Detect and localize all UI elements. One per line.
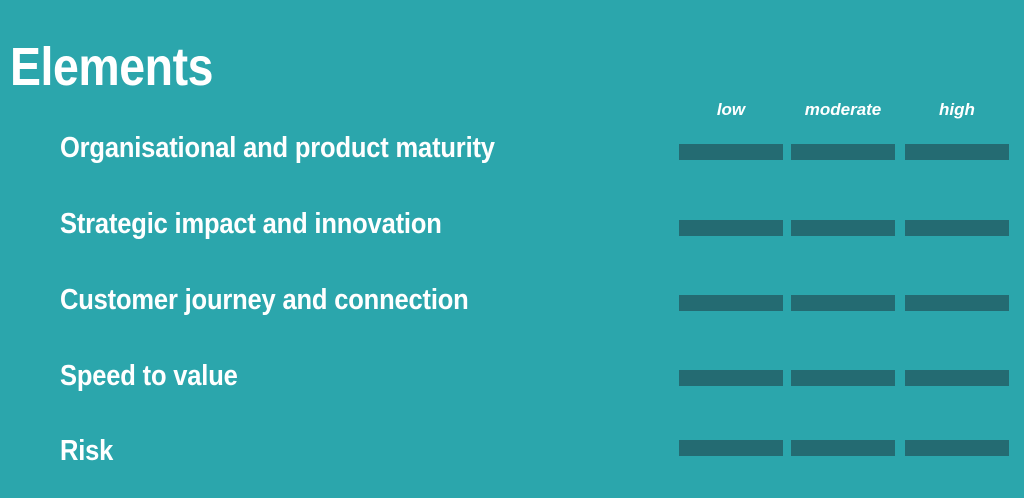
rating-bar-moderate xyxy=(791,370,895,386)
column-header-low: low xyxy=(679,99,783,121)
rating-bar-moderate xyxy=(791,144,895,160)
rating-bar-high xyxy=(905,220,1009,236)
rating-bar-high xyxy=(905,370,1009,386)
rating-bar-low xyxy=(679,144,783,160)
column-header-row: low moderate high xyxy=(679,99,1009,123)
rating-bar-moderate xyxy=(791,295,895,311)
matrix-row: Organisational and product maturity xyxy=(0,131,1024,171)
matrix-row: Strategic impact and innovation xyxy=(0,207,1024,247)
column-header-moderate: moderate xyxy=(791,99,895,121)
bottom-edge-strip xyxy=(0,498,1024,504)
row-label-speed-to-value: Speed to value xyxy=(60,359,238,393)
rating-bar-high xyxy=(905,440,1009,456)
rating-bar-low xyxy=(679,295,783,311)
rating-bar-low xyxy=(679,220,783,236)
rating-bar-moderate xyxy=(791,440,895,456)
row-label-customer-journey-and-connection: Customer journey and connection xyxy=(60,283,469,317)
page-title: Elements xyxy=(10,38,213,96)
row-label-strategic-impact-and-innovation: Strategic impact and innovation xyxy=(60,207,442,241)
row-label-organisational-and-product-maturity: Organisational and product maturity xyxy=(60,131,495,165)
matrix-row: Speed to value xyxy=(0,359,1024,399)
rating-bar-low xyxy=(679,440,783,456)
matrix-row: Risk xyxy=(0,434,1024,474)
rating-bar-high xyxy=(905,144,1009,160)
matrix-row: Customer journey and connection xyxy=(0,283,1024,323)
rating-bar-low xyxy=(679,370,783,386)
rating-bar-moderate xyxy=(791,220,895,236)
row-label-risk: Risk xyxy=(60,434,113,468)
column-header-high: high xyxy=(905,99,1009,121)
slide-canvas: Elements low moderate high Organisationa… xyxy=(0,0,1024,498)
rating-bar-high xyxy=(905,295,1009,311)
